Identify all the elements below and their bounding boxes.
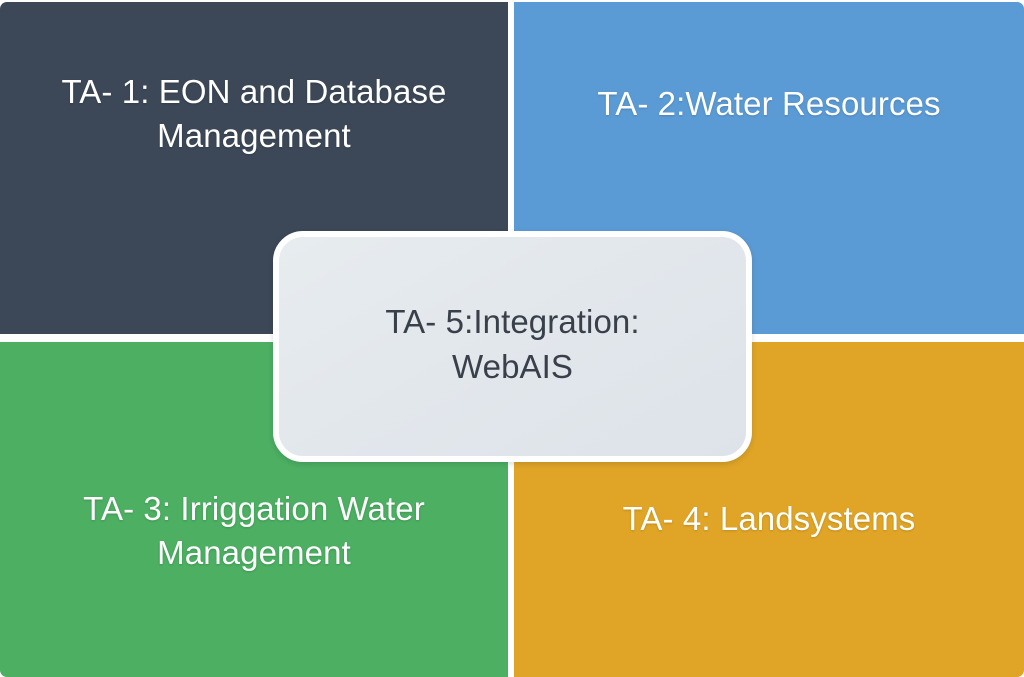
hub-card-label-ta-5: TA- 5:Integration: WebAIS [375, 300, 649, 390]
quadrant-label-ta-3: TA- 3: Irriggation Water Management [69, 487, 439, 574]
hub-card-ta-5[interactable]: TA- 5:Integration: WebAIS [273, 231, 752, 462]
quadrant-label-ta-2: TA- 2:Water Resources [583, 82, 954, 126]
quadrant-label-ta-1: TA- 1: EON and Database Management [47, 70, 460, 157]
quadrant-label-ta-4: TA- 4: Landsystems [609, 497, 930, 541]
quadrant-hub-diagram: TA- 1: EON and Database Management TA- 2… [0, 0, 1024, 677]
